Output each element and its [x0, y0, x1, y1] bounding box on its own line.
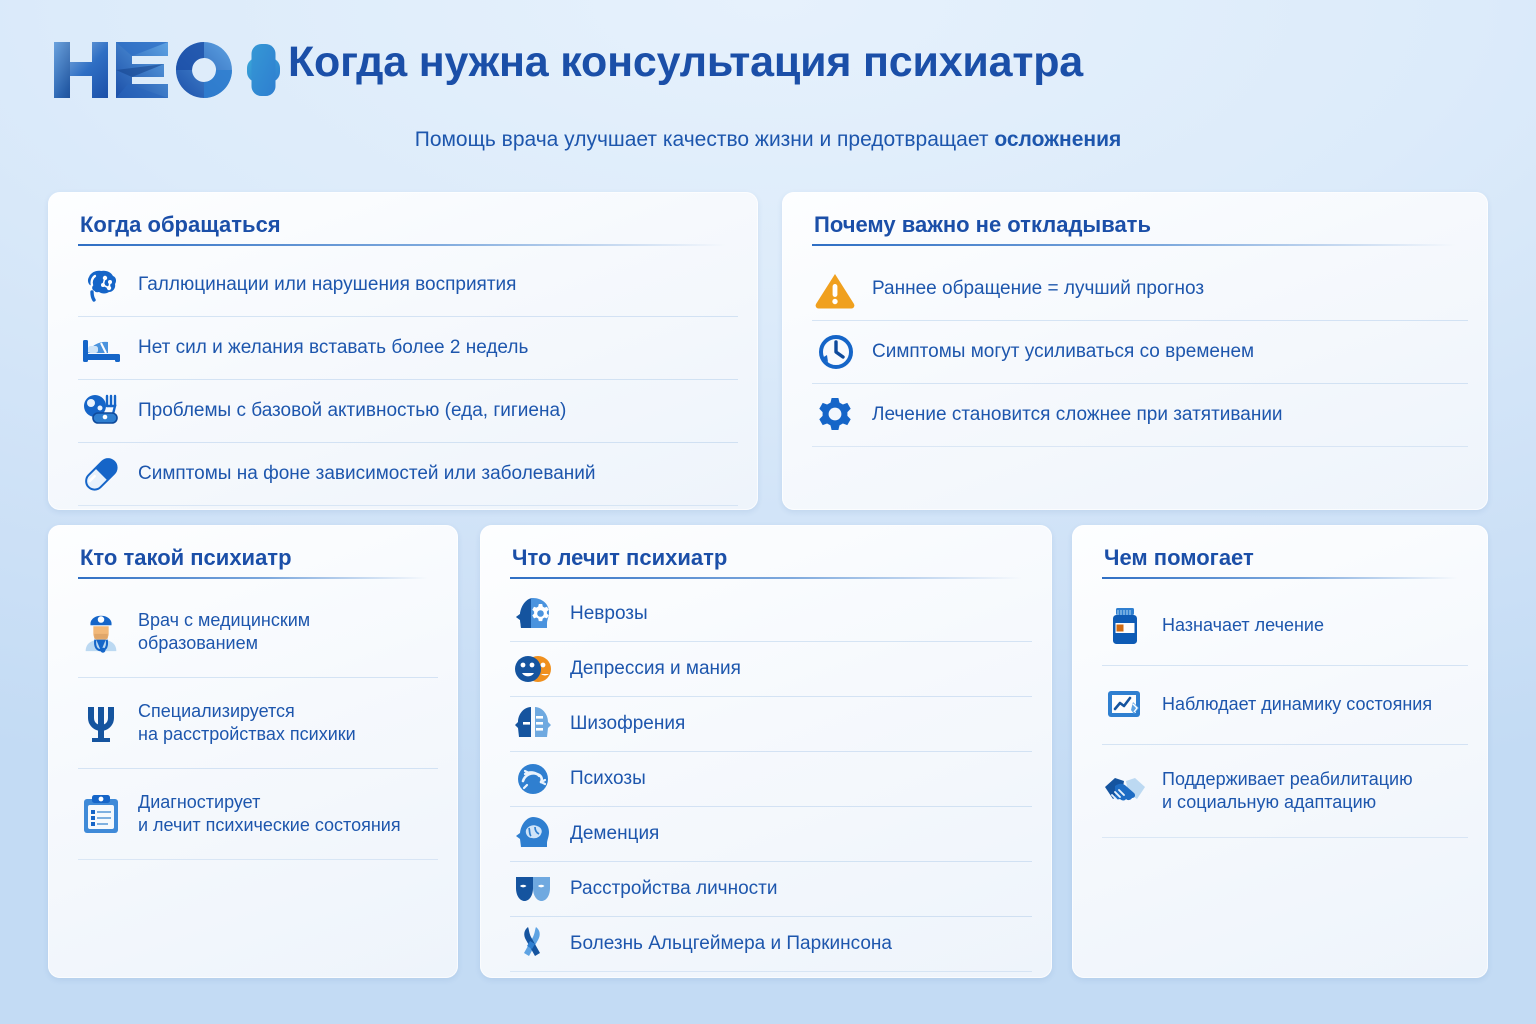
list-item[interactable]: Специализируется на расстройствах психик… — [78, 678, 438, 769]
card-what-psychiatrist-treats: Что лечит психиатр Неврозы — [480, 525, 1052, 978]
list-item[interactable]: Галлюцинации или нарушения восприятия — [78, 254, 738, 317]
brain-icon — [78, 262, 124, 308]
page-title: Когда нужна консультация психиатра — [288, 38, 1083, 87]
list-item[interactable]: Шизофрения — [510, 697, 1032, 752]
list-item-label: Раннее обращение = лучший прогноз — [872, 277, 1204, 301]
list-item[interactable]: Нет сил и желания вставать более 2 недел… — [78, 317, 738, 380]
list-item-label: Наблюдает динамику состояния — [1162, 693, 1432, 716]
pill-capsule-icon — [78, 451, 124, 497]
card-rule — [510, 577, 1022, 579]
card-why-not-delay: Почему важно не откладывать Раннее обращ… — [782, 192, 1488, 510]
list-item-label: Симптомы на фоне зависимостей или заболе… — [138, 462, 596, 486]
list-item-label: Депрессия и мания — [570, 657, 741, 681]
page-subtitle: Помощь врача улучшает качество жизни и п… — [0, 128, 1536, 152]
theatre-masks-icon — [510, 866, 556, 912]
list-item[interactable]: Болезнь Альцгеймера и Паркинсона — [510, 917, 1032, 972]
list-item[interactable]: Лечение становится сложнее при затятиван… — [812, 384, 1468, 447]
clock-icon — [812, 329, 858, 375]
list-item-label: Психозы — [570, 767, 646, 791]
tangled-mind-icon — [510, 756, 556, 802]
list-item-label: Нет сил и желания вставать более 2 недел… — [138, 336, 528, 360]
list-item[interactable]: Врач с медицинским образованием — [78, 587, 438, 678]
list-item[interactable]: Раннее обращение = лучший прогноз — [812, 258, 1468, 321]
list-item-label: Расстройства личности — [570, 877, 777, 901]
card-title-who: Кто такой психиатр — [80, 545, 292, 571]
list-item-label: Проблемы с базовой активностью (еда, гиг… — [138, 399, 566, 423]
subtitle-plain: Помощь врача улучшает качество жизни и п… — [415, 128, 995, 151]
card-helps-rows: Назначает лечение Наблюдает динамику сос… — [1102, 587, 1468, 838]
card-rule — [78, 577, 428, 579]
card-who-rows: Врач с медицинским образованием Специали… — [78, 587, 438, 860]
list-item-label: Специализируется на расстройствах психик… — [138, 700, 356, 746]
two-faces-icon — [510, 646, 556, 692]
medicine-bottle-icon — [1102, 603, 1148, 649]
doctor-avatar-icon — [78, 609, 124, 655]
card-title-treats: Что лечит психиатр — [512, 545, 727, 571]
list-item[interactable]: Наблюдает динамику состояния — [1102, 666, 1468, 745]
card-treats-rows: Неврозы Депрессия и мания — [510, 587, 1032, 972]
list-item[interactable]: Диагностирует и лечит психические состоя… — [78, 769, 438, 860]
list-item-label: Назначает лечение — [1162, 614, 1324, 637]
list-item-label: Врач с медицинским образованием — [138, 609, 310, 655]
subtitle-emphasis: осложнения — [994, 128, 1121, 151]
list-item-label: Болезнь Альцгеймера и Паркинсона — [570, 932, 892, 956]
card-when-to-seek-help: Когда обращаться Галлюцинации или наруше… — [48, 192, 758, 510]
clipboard-icon — [78, 791, 124, 837]
card-title-when: Когда обращаться — [80, 212, 281, 238]
list-item-label: Неврозы — [570, 602, 648, 626]
infographic-page: Когда нужна консультация психиатра Помощ… — [0, 0, 1536, 1024]
list-item[interactable]: Деменция — [510, 807, 1032, 862]
card-rule — [1102, 577, 1458, 579]
list-item-label: Галлюцинации или нарушения восприятия — [138, 273, 516, 297]
list-item-label: Поддерживает реабилитацию и социальную а… — [1162, 768, 1413, 814]
head-brain-icon — [510, 811, 556, 857]
meal-hygiene-icon — [78, 388, 124, 434]
list-item[interactable]: Назначает лечение — [1102, 587, 1468, 666]
list-item-label: Лечение становится сложнее при затятиван… — [872, 403, 1283, 427]
list-item-label: Деменция — [570, 822, 659, 846]
handshake-icon — [1102, 768, 1148, 814]
card-rule — [812, 244, 1456, 246]
card-rule — [78, 244, 726, 246]
list-item[interactable]: Симптомы на фоне зависимостей или заболе… — [78, 443, 738, 506]
list-item[interactable]: Симптомы могут усиливаться со временем — [812, 321, 1468, 384]
list-item[interactable]: Депрессия и мания — [510, 642, 1032, 697]
card-when-rows: Галлюцинации или нарушения восприятия Не… — [78, 254, 738, 506]
list-item[interactable]: Психозы — [510, 752, 1032, 807]
card-why-rows: Раннее обращение = лучший прогноз Симпто… — [812, 258, 1468, 447]
head-gear-icon — [510, 591, 556, 637]
header: Когда нужна консультация психиатра Помощ… — [0, 0, 1536, 170]
card-how-it-helps: Чем помогает Назначает лечение — [1072, 525, 1488, 978]
list-item[interactable]: Поддерживает реабилитацию и социальную а… — [1102, 745, 1468, 838]
chart-monitor-icon — [1102, 682, 1148, 728]
awareness-ribbon-icon — [510, 921, 556, 967]
psi-symbol-icon — [78, 700, 124, 746]
list-item[interactable]: Неврозы — [510, 587, 1032, 642]
list-item-label: Диагностирует и лечит психические состоя… — [138, 791, 401, 837]
bed-icon — [78, 325, 124, 371]
card-who-is-psychiatrist: Кто такой психиатр — [48, 525, 458, 978]
list-item[interactable]: Проблемы с базовой активностью (еда, гиг… — [78, 380, 738, 443]
warning-triangle-icon — [812, 266, 858, 312]
list-item[interactable]: Расстройства личности — [510, 862, 1032, 917]
split-head-icon — [510, 701, 556, 747]
list-item-label: Симптомы могут усиливаться со временем — [872, 340, 1254, 364]
gear-icon — [812, 392, 858, 438]
card-title-helps: Чем помогает — [1104, 545, 1254, 571]
list-item-label: Шизофрения — [570, 712, 685, 736]
neo-plus-logo — [48, 34, 280, 106]
card-title-why: Почему важно не откладывать — [814, 212, 1151, 238]
